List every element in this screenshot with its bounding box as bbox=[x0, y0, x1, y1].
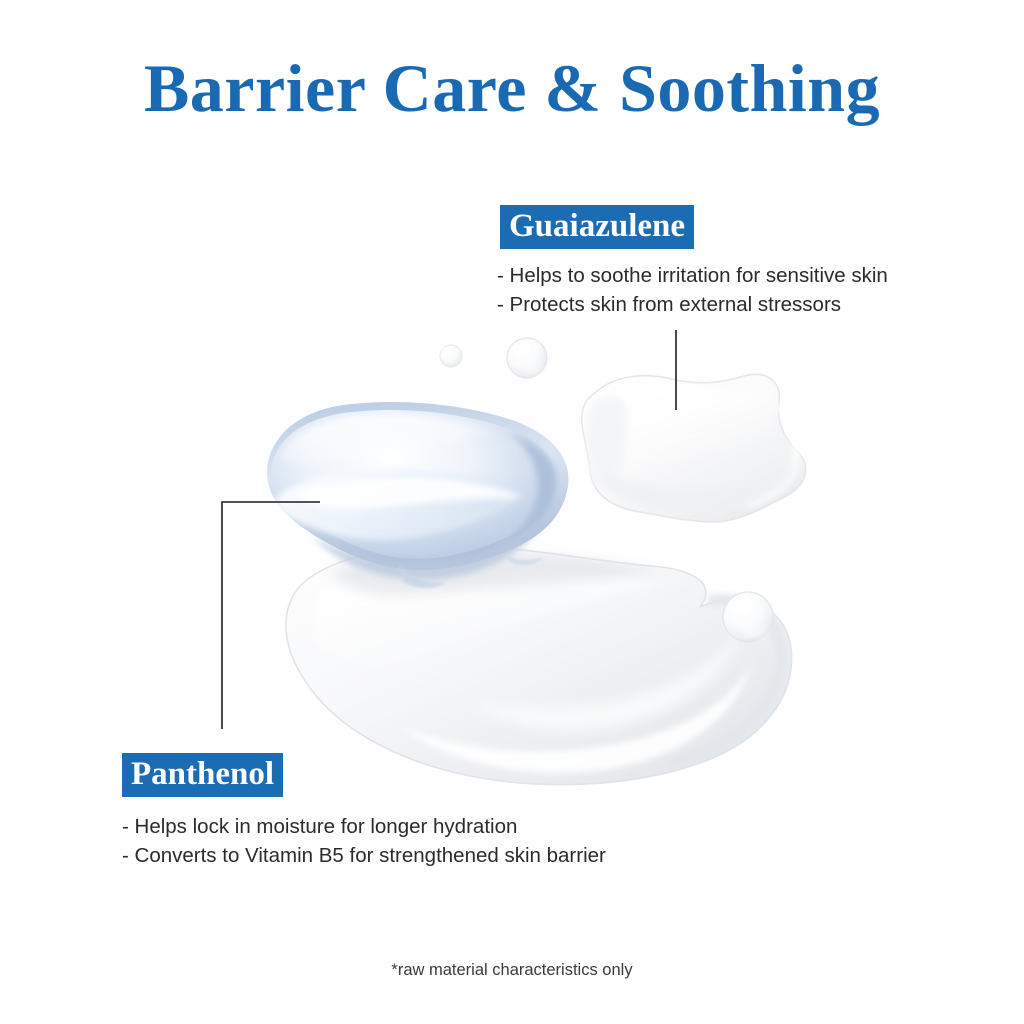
product-texture-artwork bbox=[0, 0, 1024, 1024]
benefit-item: - Protects skin from external stressors bbox=[497, 290, 888, 319]
ingredient-label-guaiazulene: Guaiazulene bbox=[500, 205, 694, 249]
clear-gel-swatch bbox=[582, 374, 806, 522]
panthenol-cream-swatch bbox=[286, 546, 792, 785]
droplet-small bbox=[440, 345, 462, 367]
page-title: Barrier Care & Soothing bbox=[0, 54, 1024, 122]
ingredient-benefits-guaiazulene: - Helps to soothe irritation for sensiti… bbox=[497, 261, 888, 319]
droplet-large bbox=[723, 592, 773, 642]
droplet-medium bbox=[507, 338, 547, 378]
benefit-item: - Helps to soothe irritation for sensiti… bbox=[497, 261, 888, 290]
benefit-item: - Helps lock in moisture for longer hydr… bbox=[122, 812, 606, 841]
footnote-disclaimer: *raw material characteristics only bbox=[0, 961, 1024, 980]
poster-canvas: Barrier Care & Soothing Guaiazulene - He… bbox=[0, 0, 1024, 1024]
ingredient-label-panthenol: Panthenol bbox=[122, 753, 283, 797]
benefit-item: - Converts to Vitamin B5 for strengthene… bbox=[122, 841, 606, 870]
ingredient-benefits-panthenol: - Helps lock in moisture for longer hydr… bbox=[122, 812, 606, 870]
